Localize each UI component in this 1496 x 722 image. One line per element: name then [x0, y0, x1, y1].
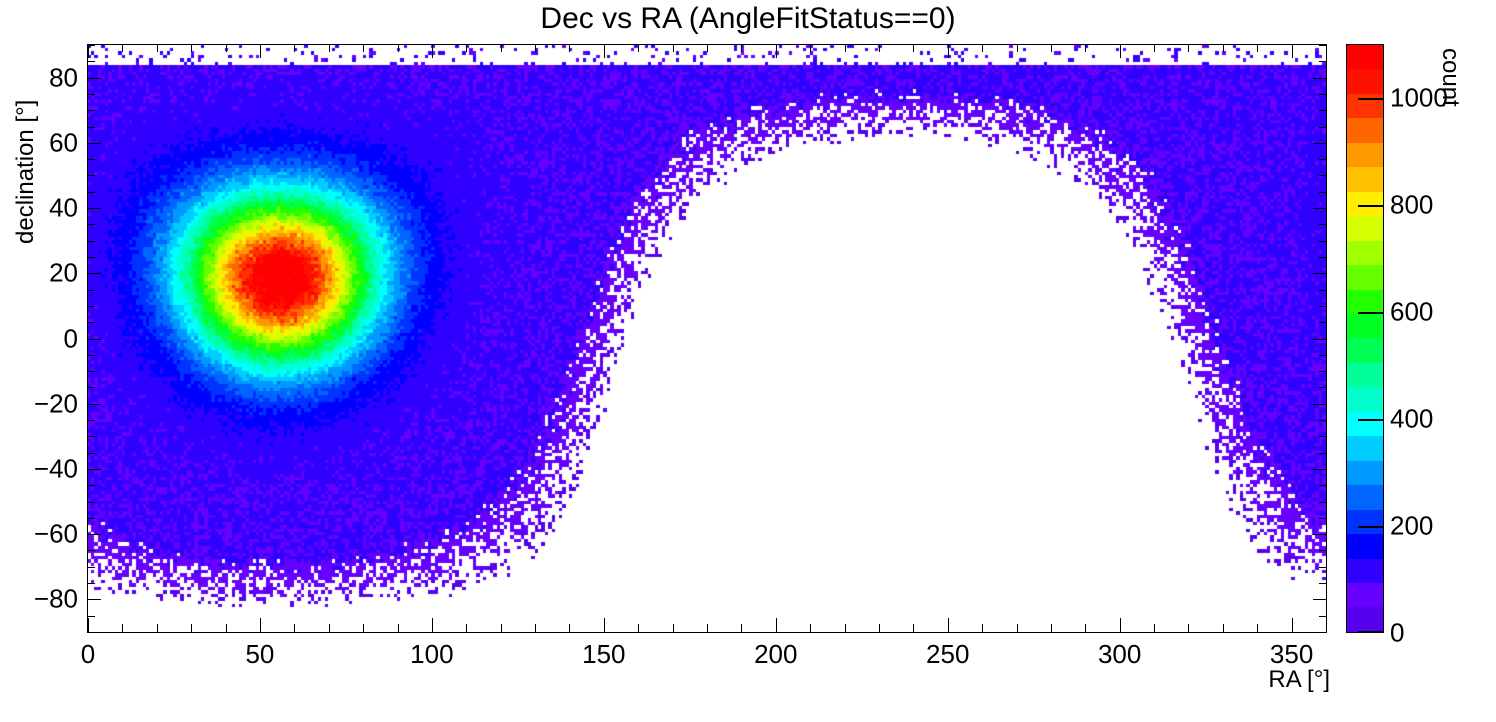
colorbar-band [1347, 241, 1383, 265]
colorbar-band [1347, 412, 1383, 436]
colorbar-tick-label: 600 [1390, 297, 1433, 328]
x-top-tick [776, 44, 777, 58]
x-minor-tick [294, 624, 295, 632]
colorbar-title: count [1436, 48, 1464, 107]
y-right-tick [1313, 208, 1327, 209]
y-right-tick [1319, 257, 1327, 258]
y-minor-tick [87, 502, 95, 503]
y-minor-tick [87, 94, 95, 95]
colorbar-tick [1358, 631, 1384, 633]
colorbar-band [1347, 143, 1383, 167]
x-minor-tick [707, 624, 708, 632]
chart-root: Dec vs RA (AngleFitStatus==0) 0501001502… [0, 0, 1496, 722]
y-minor-tick [87, 159, 95, 160]
x-major-tick [948, 618, 949, 632]
x-minor-tick [191, 624, 192, 632]
x-major-tick [260, 618, 261, 632]
x-tick-label: 0 [81, 639, 95, 670]
x-minor-tick [329, 624, 330, 632]
y-minor-tick [87, 485, 95, 486]
x-minor-tick [741, 624, 742, 632]
colorbar-band [1347, 265, 1383, 289]
x-minor-tick [1326, 624, 1327, 632]
y-right-tick [1319, 94, 1327, 95]
colorbar-band [1347, 387, 1383, 411]
x-top-tick [845, 44, 846, 52]
y-minor-tick [87, 61, 95, 62]
colorbar-tick-label: 200 [1390, 511, 1433, 542]
y-axis-title: declination [°] [12, 100, 40, 244]
x-top-tick [1188, 44, 1189, 52]
x-minor-tick [638, 624, 639, 632]
colorbar-band [1347, 314, 1383, 338]
y-right-tick [1313, 534, 1327, 535]
x-top-tick [260, 44, 261, 58]
x-minor-tick [363, 624, 364, 632]
x-top-tick [432, 44, 433, 58]
y-minor-tick [87, 127, 95, 128]
y-tick-label: −40 [34, 453, 78, 484]
x-minor-tick [398, 624, 399, 632]
y-right-tick [1313, 469, 1327, 470]
x-minor-tick [673, 624, 674, 632]
y-right-tick [1319, 436, 1327, 437]
x-top-tick [638, 44, 639, 52]
y-right-tick [1313, 404, 1327, 405]
y-minor-tick [87, 224, 95, 225]
y-right-tick [1319, 322, 1327, 323]
colorbar-band [1347, 363, 1383, 387]
x-top-tick [1120, 44, 1121, 58]
y-major-tick [87, 273, 101, 274]
y-tick-label: −20 [34, 388, 78, 419]
x-top-tick [1292, 44, 1293, 58]
x-top-tick [122, 44, 123, 52]
y-minor-tick [87, 387, 95, 388]
heatmap-canvas [88, 45, 1326, 632]
y-minor-tick [87, 355, 95, 356]
y-right-tick [1319, 45, 1327, 46]
colorbar-tick-label: 400 [1390, 404, 1433, 435]
y-right-tick [1319, 567, 1327, 568]
y-minor-tick [87, 257, 95, 258]
x-minor-tick [982, 624, 983, 632]
x-top-tick [569, 44, 570, 52]
y-tick-label: 80 [49, 62, 78, 93]
x-top-tick [1257, 44, 1258, 52]
y-right-tick [1319, 518, 1327, 519]
y-minor-tick [87, 616, 95, 617]
x-minor-tick [569, 624, 570, 632]
y-right-tick [1319, 159, 1327, 160]
colorbar-band [1347, 167, 1383, 191]
x-top-tick [707, 44, 708, 52]
y-tick-label: 40 [49, 193, 78, 224]
y-right-tick [1319, 371, 1327, 372]
y-right-tick [1319, 290, 1327, 291]
x-top-tick [88, 44, 89, 58]
y-right-tick [1319, 192, 1327, 193]
x-tick-label: 250 [926, 639, 969, 670]
colorbar-band [1347, 216, 1383, 240]
x-top-tick [329, 44, 330, 52]
colorbar-band [1347, 534, 1383, 558]
x-top-tick [1154, 44, 1155, 52]
colorbar-band [1347, 192, 1383, 216]
y-minor-tick [87, 110, 95, 111]
y-minor-tick [87, 632, 95, 633]
x-minor-tick [810, 624, 811, 632]
colorbar-band [1347, 510, 1383, 534]
y-major-tick [87, 78, 101, 79]
y-right-tick [1319, 550, 1327, 551]
y-minor-tick [87, 306, 95, 307]
x-top-tick [982, 44, 983, 52]
x-top-tick [535, 44, 536, 52]
colorbar-tick [1358, 205, 1384, 207]
x-major-tick [432, 618, 433, 632]
x-top-tick [948, 44, 949, 58]
y-right-tick [1319, 241, 1327, 242]
y-right-tick [1319, 453, 1327, 454]
x-top-tick [466, 44, 467, 52]
x-top-tick [1085, 44, 1086, 52]
y-right-tick [1313, 143, 1327, 144]
y-right-tick [1319, 175, 1327, 176]
colorbar-band [1347, 559, 1383, 583]
x-top-tick [501, 44, 502, 52]
y-minor-tick [87, 436, 95, 437]
x-major-tick [1120, 618, 1121, 632]
y-tick-label: 20 [49, 258, 78, 289]
colorbar [1346, 44, 1384, 633]
y-right-tick [1313, 339, 1327, 340]
y-minor-tick [87, 550, 95, 551]
y-minor-tick [87, 322, 95, 323]
y-right-tick [1319, 616, 1327, 617]
y-right-tick [1319, 583, 1327, 584]
x-top-tick [741, 44, 742, 52]
x-minor-tick [1017, 624, 1018, 632]
y-right-tick [1319, 224, 1327, 225]
x-top-tick [157, 44, 158, 52]
colorbar-band [1347, 338, 1383, 362]
x-minor-tick [157, 624, 158, 632]
y-minor-tick [87, 192, 95, 193]
x-top-tick [879, 44, 880, 52]
y-right-tick [1319, 110, 1327, 111]
colorbar-band [1347, 583, 1383, 607]
x-minor-tick [1154, 624, 1155, 632]
x-top-tick [673, 44, 674, 52]
colorbar-band [1347, 118, 1383, 142]
x-minor-tick [466, 624, 467, 632]
colorbar-band [1347, 607, 1383, 631]
y-right-tick [1319, 61, 1327, 62]
colorbar-band [1347, 290, 1383, 314]
x-top-tick [1017, 44, 1018, 52]
y-right-tick [1319, 355, 1327, 356]
y-tick-label: −60 [34, 519, 78, 550]
y-minor-tick [87, 241, 95, 242]
x-minor-tick [845, 624, 846, 632]
x-minor-tick [122, 624, 123, 632]
y-right-tick [1319, 632, 1327, 633]
colorbar-tick [1358, 98, 1384, 100]
x-top-tick [913, 44, 914, 52]
x-top-tick [294, 44, 295, 52]
x-minor-tick [501, 624, 502, 632]
x-minor-tick [226, 624, 227, 632]
y-major-tick [87, 143, 101, 144]
x-minor-tick [1223, 624, 1224, 632]
x-minor-tick [879, 624, 880, 632]
colorbar-band [1347, 45, 1383, 69]
y-minor-tick [87, 518, 95, 519]
x-top-tick [1051, 44, 1052, 52]
y-major-tick [87, 339, 101, 340]
x-top-tick [363, 44, 364, 52]
colorbar-band [1347, 461, 1383, 485]
y-major-tick [87, 534, 101, 535]
colorbar-band [1347, 436, 1383, 460]
y-major-tick [87, 208, 101, 209]
y-minor-tick [87, 371, 95, 372]
y-major-tick [87, 404, 101, 405]
x-tick-label: 200 [754, 639, 797, 670]
y-tick-label: −80 [34, 584, 78, 615]
x-tick-label: 50 [245, 639, 274, 670]
x-axis-title: RA [°] [1268, 666, 1330, 694]
x-minor-tick [1257, 624, 1258, 632]
x-tick-label: 300 [1098, 639, 1141, 670]
y-minor-tick [87, 567, 95, 568]
colorbar-band [1347, 69, 1383, 93]
x-minor-tick [1188, 624, 1189, 632]
y-right-tick [1313, 599, 1327, 600]
y-minor-tick [87, 583, 95, 584]
chart-title: Dec vs RA (AngleFitStatus==0) [0, 2, 1496, 36]
y-right-tick [1319, 127, 1327, 128]
y-tick-label: 0 [64, 323, 78, 354]
x-minor-tick [1085, 624, 1086, 632]
y-major-tick [87, 599, 101, 600]
x-minor-tick [1051, 624, 1052, 632]
colorbar-band [1347, 485, 1383, 509]
y-right-tick [1319, 502, 1327, 503]
colorbar-tick-label: 800 [1390, 190, 1433, 221]
y-minor-tick [87, 453, 95, 454]
colorbar-tick [1358, 312, 1384, 314]
x-minor-tick [535, 624, 536, 632]
y-minor-tick [87, 175, 95, 176]
x-top-tick [191, 44, 192, 52]
x-top-tick [604, 44, 605, 58]
y-right-tick [1313, 78, 1327, 79]
x-major-tick [776, 618, 777, 632]
y-right-tick [1319, 387, 1327, 388]
x-major-tick [604, 618, 605, 632]
x-minor-tick [913, 624, 914, 632]
y-right-tick [1313, 273, 1327, 274]
y-major-tick [87, 469, 101, 470]
y-minor-tick [87, 290, 95, 291]
x-top-tick [1223, 44, 1224, 52]
y-right-tick [1319, 306, 1327, 307]
colorbar-tick [1358, 419, 1384, 421]
x-major-tick [1292, 618, 1293, 632]
colorbar-tick [1358, 526, 1384, 528]
x-top-tick [810, 44, 811, 52]
plot-frame [87, 44, 1327, 633]
y-tick-label: 60 [49, 127, 78, 158]
x-tick-label: 150 [582, 639, 625, 670]
colorbar-tick-label: 0 [1390, 618, 1404, 649]
y-minor-tick [87, 45, 95, 46]
y-right-tick [1319, 485, 1327, 486]
y-right-tick [1319, 420, 1327, 421]
x-top-tick [226, 44, 227, 52]
x-major-tick [88, 618, 89, 632]
x-top-tick [398, 44, 399, 52]
x-tick-label: 100 [410, 639, 453, 670]
y-minor-tick [87, 420, 95, 421]
